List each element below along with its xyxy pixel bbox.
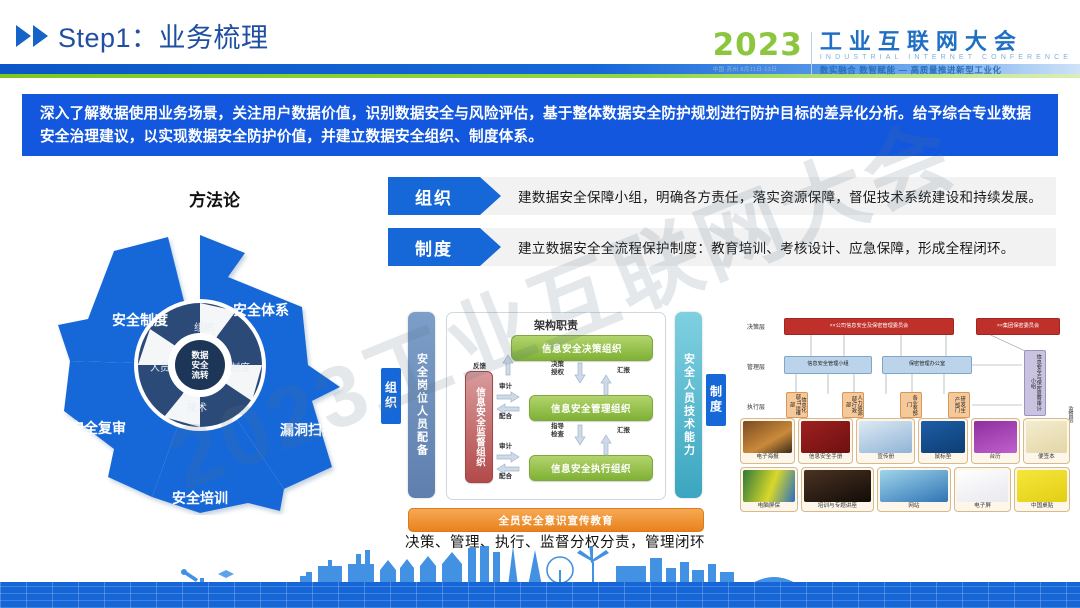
org-arrow-label-authorize: 决策 授权 <box>551 361 564 377</box>
thumb-image <box>880 470 948 502</box>
logo-year-sub: 中国·苏州 8月11日-13日 <box>713 65 803 73</box>
thumb-image <box>804 470 872 502</box>
collage-node-exec-2: 人力资源部/行政部 <box>842 392 864 418</box>
thumb-row-1: 电子海报 信息安全手册 宣传册 鼠标垫 台历 便签本 <box>740 418 1070 464</box>
org-chart: 安全岗位人员配备 安全人员技术能力 架构职责 信息安全决策组织 信息安全管理组织… <box>400 308 710 528</box>
thumb-caption: 便签本 <box>1038 454 1055 461</box>
thumb-caption: 电子屏 <box>974 503 991 510</box>
thumb-image <box>743 421 792 453</box>
wheel-inner-3: 人员 <box>150 362 170 374</box>
thumb-item[interactable]: 鼠标垫 <box>918 418 967 464</box>
thumb-caption: 宣传册 <box>877 454 894 461</box>
banner-system-tag: 制度 <box>388 228 480 266</box>
collage-node-committee: ××公司信息安全及保密管理委员会 <box>784 318 954 335</box>
summary-box: 深入了解数据使用业务场景，关注用户数据价值，识别数据安全与风险评估，基于整体数据… <box>22 94 1058 156</box>
thumb-item[interactable]: 电子海报 <box>740 418 795 464</box>
thumb-caption: 中国桌贴 <box>1031 503 1053 510</box>
conference-logo: 2023 中国·苏州 8月11日-13日 工业互联网大会 INDUSTRIAL … <box>713 30 1072 76</box>
thumb-caption: 台历 <box>990 454 1001 461</box>
page-title-text: Step1：业务梳理 <box>58 16 269 55</box>
org-arrow-label-guide: 指导 检查 <box>551 423 564 439</box>
thumb-caption: 信息安全手册 <box>809 454 843 461</box>
banner-system[interactable]: 制度 建立数据安全全流程保护制度：教育培训、考核设计、应急保障，形成全程闭环。 <box>388 228 1056 266</box>
industrial-skyline-icon <box>0 546 1080 586</box>
banner-organization-tag: 组织 <box>388 177 480 215</box>
org-arrow-label-feedback: 反馈 <box>473 363 486 371</box>
thumb-item[interactable]: 电子屏 <box>954 467 1012 513</box>
banner-organization[interactable]: 组织 建数据安全保障小组，明确各方责任，落实资源保障，督促技术系统建设和持续发展… <box>388 177 1056 215</box>
thumb-image <box>974 421 1017 453</box>
thumb-caption: 培训与专题讲座 <box>818 503 857 510</box>
thumb-item[interactable]: 中国桌贴 <box>1014 467 1070 513</box>
thumb-item[interactable]: 电脑屏保 <box>740 467 798 513</box>
org-chart-left-sidebar: 安全岗位人员配备 <box>408 312 435 498</box>
collage-node-committee2: ××集团保密委员会 <box>976 318 1060 335</box>
thumb-row-2: 电脑屏保 培训与专题讲座 网站 电子屏 中国桌贴 <box>740 467 1070 513</box>
thumb-image <box>801 421 850 453</box>
slide-root: Step1：业务梳理 2023 中国·苏州 8月11日-13日 工业互联网大会 … <box>0 0 1080 608</box>
wheel-label-1: 漏洞扫描 <box>280 422 336 438</box>
thumb-image <box>1017 470 1067 502</box>
wheel-label-0: 安全体系 <box>233 302 289 318</box>
thumb-item[interactable]: 培训与专题讲座 <box>801 467 875 513</box>
methodology-title: 方法论 <box>189 186 240 211</box>
org-arrow-label-report-bottom: 汇报 <box>617 427 630 435</box>
wheel-center-label: 数据 安全 流转 <box>191 350 209 380</box>
flag-organization: 组织 <box>381 368 401 424</box>
wheel-label-2: 安全培训 <box>172 490 228 506</box>
collage-node-group-left: 信息安全管理小组 <box>784 356 872 374</box>
org-chart-footer-bar: 全员安全意识宣传教育 <box>408 508 704 532</box>
thumb-item[interactable]: 宣传册 <box>856 418 915 464</box>
awareness-material-thumbnails: 电子海报 信息安全手册 宣传册 鼠标垫 台历 便签本 <box>740 418 1070 515</box>
org-chart-right-sidebar: 安全人员技术能力 <box>675 312 702 498</box>
wheel-label-3: 安全复审 <box>70 420 126 436</box>
logo-cn-name: 工业互联网大会 <box>820 30 1072 53</box>
thumb-image <box>957 470 1009 502</box>
logo-year-block: 2023 中国·苏州 8月11日-13日 <box>713 30 803 73</box>
thumb-caption: 鼠标垫 <box>935 454 952 461</box>
org-chart-panel: 架构职责 信息安全决策组织 信息安全管理组织 信息安全执行组织 信息安全监督组织 <box>446 312 666 500</box>
org-arrow-label-report-top: 汇报 <box>617 367 630 375</box>
thumb-item[interactable]: 信息安全手册 <box>798 418 853 464</box>
thumb-item[interactable]: 台历 <box>971 418 1020 464</box>
svg-text:安全: 安全 <box>191 360 209 370</box>
collage-node-exec-3: 各业务部门 <box>900 392 922 418</box>
thumb-caption: 电子海报 <box>756 454 778 461</box>
logo-tagline: 数实融合 数智赋能 — 高质量推进新型工业化 <box>820 64 1072 76</box>
wheel-inner-1: 制度 <box>230 361 250 374</box>
thumb-caption: 网站 <box>908 503 919 510</box>
collage-node-group-right: 保密管理办公室 <box>882 356 972 374</box>
collage-node-exec-1: 信息化部/IT运维部 <box>786 392 808 418</box>
org-arrow-label-cooperate-top: 配合 <box>499 413 512 421</box>
banner-organization-text: 建数据安全保障小组，明确各方责任，落实资源保障，督促技术系统建设和持续发展。 <box>480 177 1056 215</box>
org-arrow-label-cooperate-bottom: 配合 <box>499 473 512 481</box>
page-title: Step1：业务梳理 <box>16 16 269 55</box>
wheel-label-4: 安全制度 <box>112 312 169 328</box>
org-chart-arrows <box>447 313 665 499</box>
banner-system-text: 建立数据安全全流程保护制度：教育培训、考核设计、应急保障，形成全程闭环。 <box>480 228 1056 266</box>
methodology-wheel: 安全体系 漏洞扫描 安全培训 安全复审 安全制度 组织 制度 技术 人员 数据 … <box>40 215 360 515</box>
double-triangle-icon <box>16 25 48 47</box>
collage-node-exec-4: 研发/生产部门 <box>948 392 970 418</box>
footer-grid-band <box>0 582 1080 608</box>
thumb-image <box>743 470 795 502</box>
thumb-image <box>1026 421 1067 453</box>
logo-en-name: INDUSTRIAL INTERNET CONFERENCE <box>820 53 1072 64</box>
logo-name-block: 工业互联网大会 INDUSTRIAL INTERNET CONFERENCE 数… <box>820 30 1072 76</box>
org-arrow-label-audit-top: 审计 <box>499 383 512 391</box>
logo-divider <box>811 32 812 76</box>
collage-node-supervise: 信息安全与保密监督审计小组 <box>1024 350 1046 416</box>
logo-year: 2023 <box>713 30 803 61</box>
thumb-item[interactable]: 便签本 <box>1023 418 1070 464</box>
wheel-inner-0: 组织 <box>194 321 214 334</box>
thumb-image <box>921 421 964 453</box>
methodology-wheel-svg: 安全体系 漏洞扫描 安全培训 安全复审 安全制度 组织 制度 技术 人员 数据 … <box>40 215 360 515</box>
thumb-image <box>859 421 912 453</box>
org-arrow-label-audit-bottom: 审计 <box>499 443 512 451</box>
thumb-item[interactable]: 网站 <box>877 467 951 513</box>
svg-text:流转: 流转 <box>191 370 209 380</box>
footer-decoration <box>0 546 1080 608</box>
wheel-inner-2: 技术 <box>187 401 207 414</box>
svg-text:数据: 数据 <box>191 350 209 360</box>
thumb-caption: 电脑屏保 <box>758 503 780 510</box>
